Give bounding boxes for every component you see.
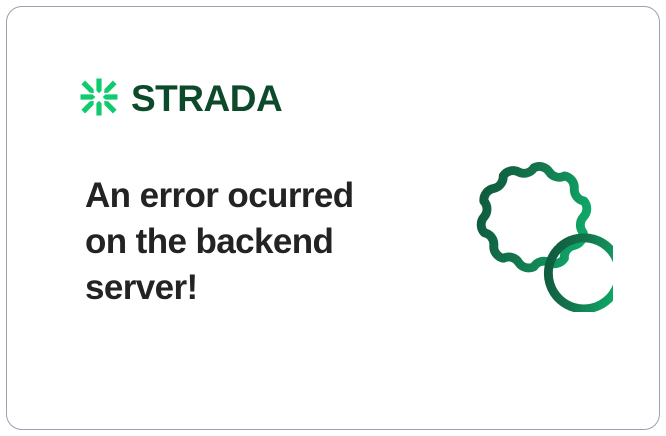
gear-cog-icon [455, 146, 613, 312]
error-page: STRADA An error ocurred on the backend s… [0, 0, 666, 436]
strada-asterisk-icon [79, 77, 119, 117]
brand-wordmark: STRADA [131, 80, 282, 117]
error-message-text: An error ocurred on the backend server! [85, 173, 385, 311]
error-card: STRADA An error ocurred on the backend s… [6, 6, 660, 430]
brand-lockup: STRADA [79, 75, 282, 119]
